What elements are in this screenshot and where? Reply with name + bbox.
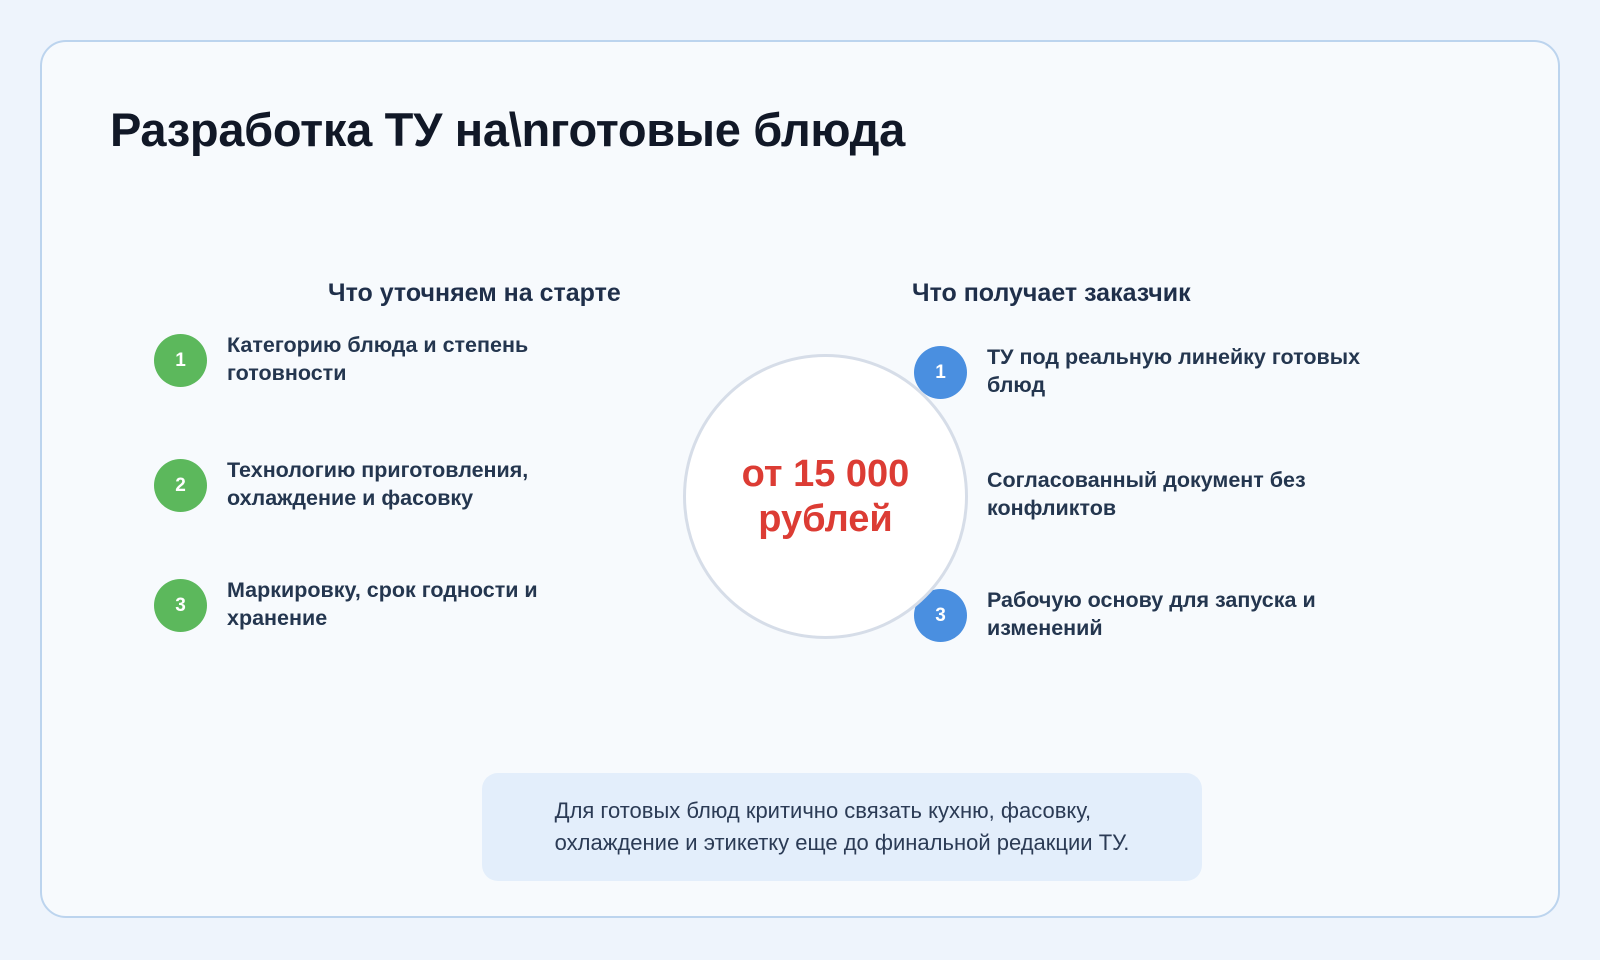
- slide-root: Разработка ТУ на\nготовые блюда Что уточ…: [0, 0, 1600, 960]
- right-list-item-1: 1 ТУ под реальную линейку готовых блюд: [914, 344, 1374, 399]
- content-card: Разработка ТУ на\nготовые блюда Что уточ…: [40, 40, 1560, 918]
- left-list-item-2: 2 Технологию приготовления, охлаждение и…: [154, 457, 624, 512]
- left-list-item-label: Технологию приготовления, охлаждение и ф…: [227, 457, 624, 512]
- price-circle: от 15 000 рублей: [683, 354, 968, 639]
- note-box: Для готовых блюд критично связать кухню,…: [482, 773, 1202, 881]
- left-list-item-label: Категорию блюда и степень готовности: [227, 332, 624, 387]
- left-list-item-1: 1 Категорию блюда и степень готовности: [154, 332, 624, 387]
- right-column-heading: Что получает заказчик: [912, 279, 1191, 308]
- left-list-item-3: 3 Маркировку, срок годности и хранение: [154, 577, 624, 632]
- right-list-item-label: ТУ под реальную линейку готовых блюд: [987, 344, 1374, 399]
- right-list-item-3: 3 Рабочую основу для запуска и изменений: [914, 587, 1374, 642]
- number-badge: 2: [154, 459, 207, 512]
- number-badge: 3: [154, 579, 207, 632]
- price-label: от 15 000 рублей: [741, 452, 911, 542]
- right-list-item-label: Рабочую основу для запуска и изменений: [987, 587, 1374, 642]
- page-title: Разработка ТУ на\nготовые блюда: [110, 102, 905, 157]
- left-column-heading: Что уточняем на старте: [328, 279, 621, 308]
- number-badge: 1: [154, 334, 207, 387]
- note-text: Для готовых блюд критично связать кухню,…: [529, 795, 1156, 859]
- left-list-item-label: Маркировку, срок годности и хранение: [227, 577, 624, 632]
- right-list-item-label: Согласованный документ без конфликтов: [987, 467, 1374, 522]
- right-list-item-2: 2 Согласованный документ без конфликтов: [914, 467, 1374, 522]
